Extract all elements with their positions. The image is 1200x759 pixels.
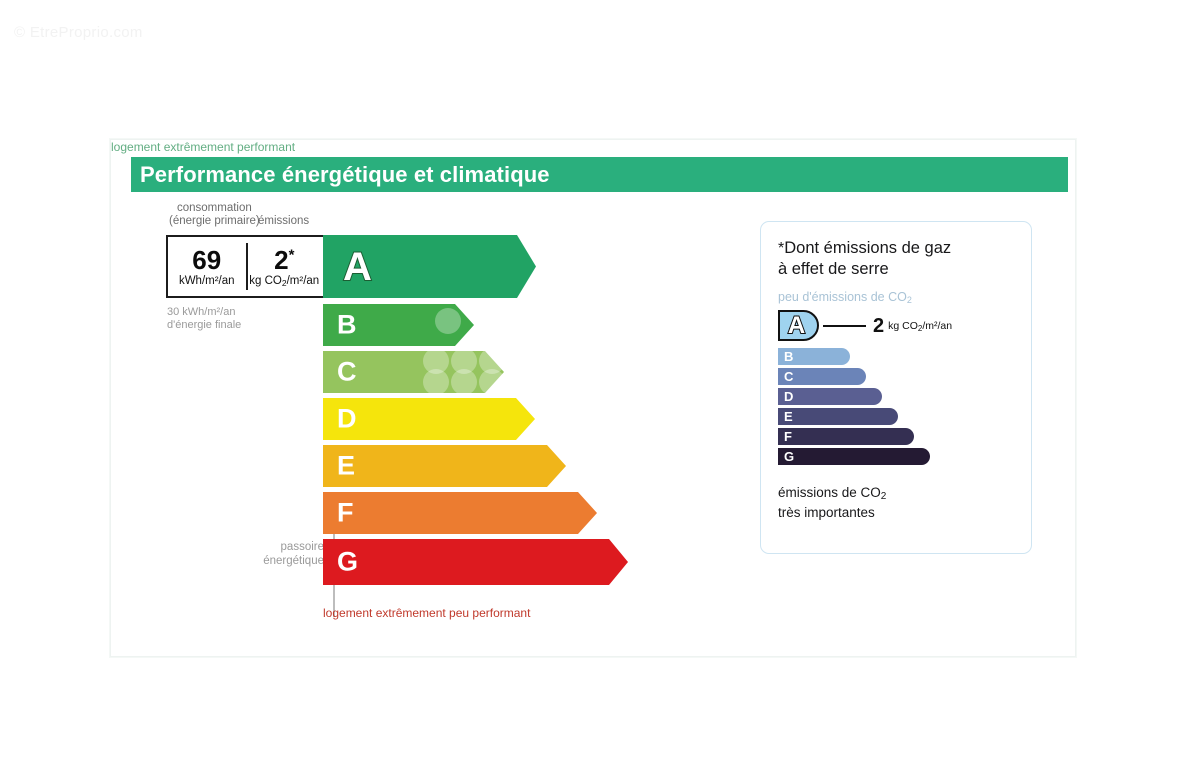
energy-class-bar-c: C (323, 351, 628, 393)
energy-class-letter-g: G (337, 549, 358, 576)
site-watermark: © EtreProprio.com (14, 24, 143, 41)
co2-class-bar-b: B (778, 348, 850, 365)
energy-class-bar-a: A (323, 235, 628, 298)
co2-low-emissions-label: peu d'émissions de CO2 (778, 290, 912, 304)
co2-class-letter-b: B (784, 350, 793, 363)
emissions-value: 2* (274, 247, 294, 274)
energy-class-shape-f (323, 492, 597, 534)
emissions-unit: kg CO2/m²/an (249, 275, 319, 287)
energy-class-shape-g (323, 539, 628, 585)
energy-class-letter-b: B (337, 312, 357, 339)
co2-class-bar-g: G (778, 448, 930, 465)
energy-class-shape-e (323, 445, 566, 487)
co2-high-emissions-label: émissions de CO2 très importantes (778, 484, 886, 522)
co2-unit: kg CO2/m²/an (888, 320, 952, 332)
co2-class-letter-c: C (784, 370, 793, 383)
co2-panel-title: *Dont émissions de gaz à effet de serre (778, 238, 1013, 280)
emissions-asterisk: * (289, 246, 295, 263)
co2-class-bar-e: E (778, 408, 898, 425)
co2-current-class-letter: A (788, 314, 805, 338)
co2-current-class-row: A 2 kg CO2/m²/an (778, 310, 952, 341)
energy-performance-block: consommation (énergie primaire) émission… (111, 140, 771, 656)
measurement-value-box: 69 kWh/m²/an 2* kg CO2/m²/an (166, 235, 323, 298)
co2-class-bar-c: C (778, 368, 866, 385)
best-performance-caption: logement extrêmement performant (111, 140, 771, 154)
dpe-card-inner: Performance énergétique et climatique co… (111, 140, 1075, 656)
consumption-header-label: consommation (énergie primaire) (169, 202, 260, 228)
energy-class-bar-e: E (323, 445, 628, 487)
co2-class-letter-f: F (784, 430, 792, 443)
energy-class-letter-c: C (337, 359, 357, 386)
consumption-value: 69 (192, 247, 221, 274)
energy-class-letter-a: A (343, 247, 372, 287)
co2-connector-line (823, 325, 866, 327)
passoire-energetique-label: passoire énergétique (256, 540, 324, 568)
worst-performance-caption: logement extrêmement peu performant (323, 606, 530, 620)
co2-class-bar-d: D (778, 388, 882, 405)
energy-class-letter-e: E (337, 453, 355, 480)
energy-class-bar-f: F (323, 492, 628, 534)
co2-class-letter-g: G (784, 450, 794, 463)
dpe-card: Performance énergétique et climatique co… (110, 139, 1076, 657)
emissions-value-cell: 2* kg CO2/m²/an (246, 237, 324, 296)
emissions-header-label: émissions (258, 215, 309, 228)
consumption-unit: kWh/m²/an (179, 275, 235, 287)
final-energy-note: 30 kWh/m²/an d'énergie finale (167, 306, 241, 332)
energy-class-bar-b: B (323, 304, 628, 346)
co2-class-letter-e: E (784, 410, 793, 423)
energy-class-bar-g: G (323, 539, 628, 585)
greenhouse-gas-panel: *Dont émissions de gaz à effet de serre … (760, 221, 1032, 554)
energy-class-letter-d: D (337, 406, 357, 433)
energy-class-letter-f: F (337, 500, 354, 527)
co2-class-bar-f: F (778, 428, 914, 445)
co2-current-class-badge: A (778, 310, 819, 341)
co2-value: 2 (873, 316, 884, 336)
co2-class-scale: BCDEFG (778, 348, 930, 468)
energy-class-bar-d: D (323, 398, 628, 440)
co2-class-letter-d: D (784, 390, 793, 403)
energy-class-scale: ABCDEFG (323, 235, 628, 590)
consumption-value-cell: 69 kWh/m²/an (168, 237, 246, 296)
